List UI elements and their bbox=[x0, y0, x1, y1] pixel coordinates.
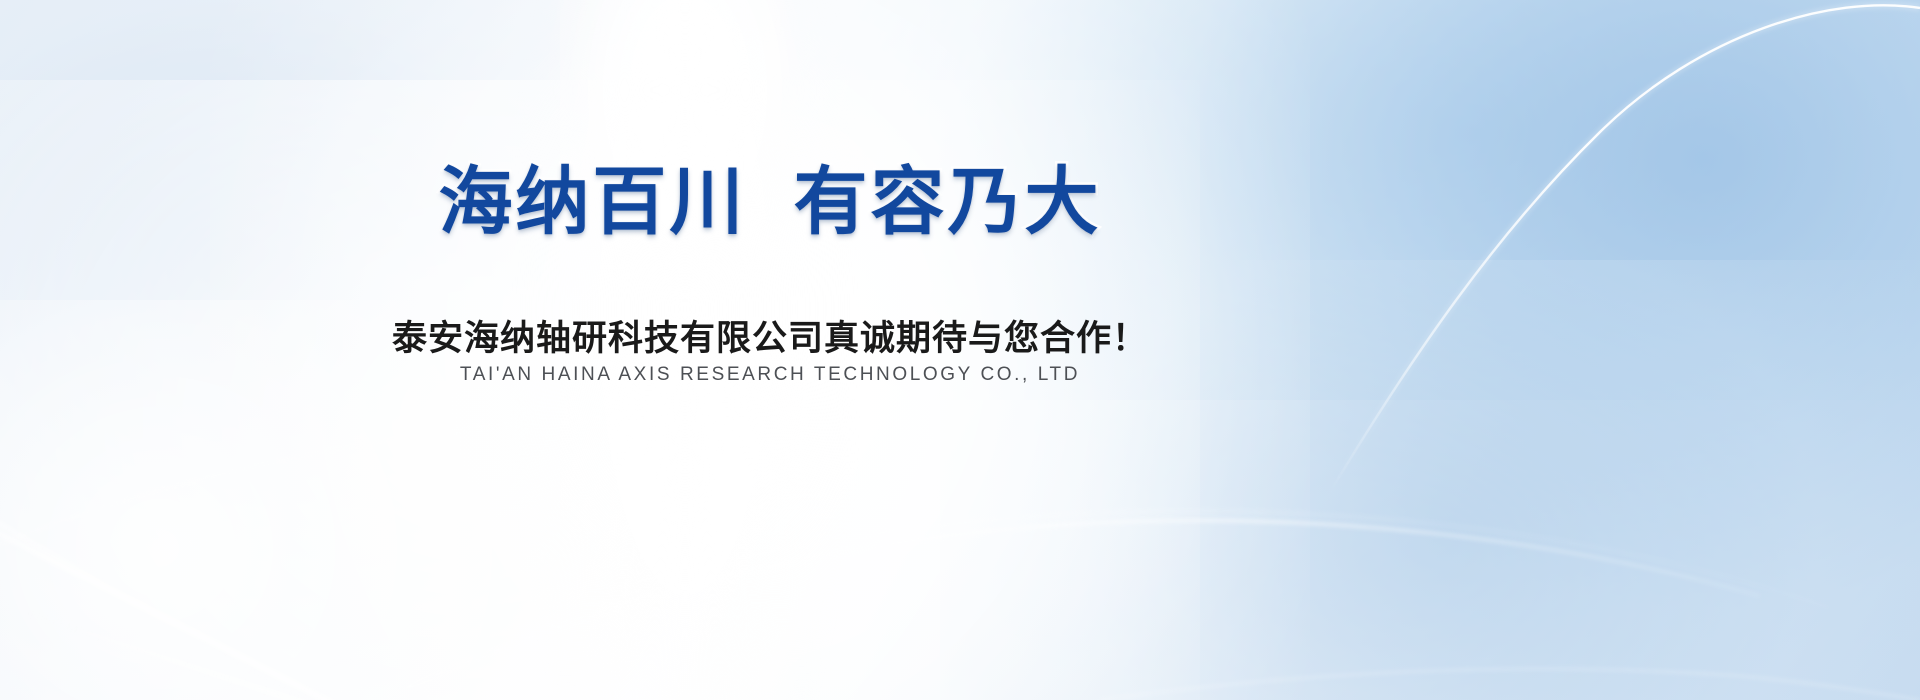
banner-subtitle-chinese: 泰安海纳轴研科技有限公司真诚期待与您合作！ bbox=[0, 310, 1730, 361]
banner-headline: 海纳百川 有容乃大 bbox=[0, 163, 1730, 241]
banner-content: 海纳百川 有容乃大 泰安海纳轴研科技有限公司真诚期待与您合作！ TAI'AN H… bbox=[0, 0, 1920, 700]
banner-subtitle-english: TAI'AN HAINA AXIS RESEARCH TECHNOLOGY CO… bbox=[0, 364, 1730, 386]
hero-banner: 海纳百川 有容乃大 泰安海纳轴研科技有限公司真诚期待与您合作！ TAI'AN H… bbox=[0, 0, 1920, 700]
